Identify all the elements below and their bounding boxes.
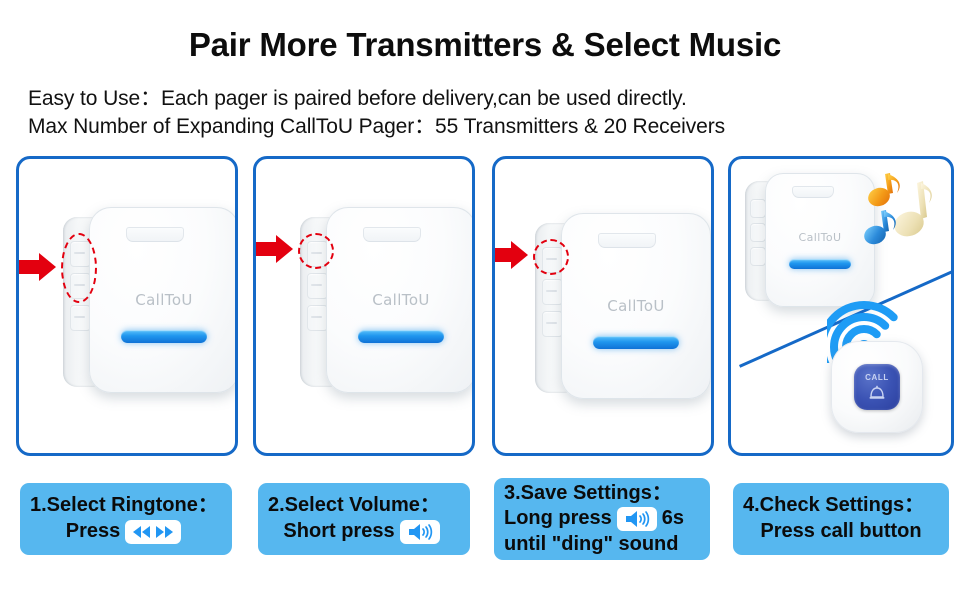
caption-step-1: 1.Select Ringtone： Press [20,483,232,555]
device-led-indicator [358,330,444,343]
button-nub [74,316,85,318]
caption-2-line-2: Short press [258,519,470,545]
device-led-indicator [593,336,679,349]
red-arrow-pointer [16,253,59,281]
device-logo-text: CallToU [135,291,193,309]
call-button-label: CALL [865,373,889,382]
panel-step-2: CallToU [253,156,475,456]
caption-4-line-1: 4.Check Settings： [733,493,949,519]
caption-2-line-1: 2.Select Volume： [258,493,470,519]
caption-1-prefix: Press [66,519,121,545]
red-arrow-pointer [253,235,296,263]
device-side-button-bottom[interactable] [70,305,91,331]
device-speaker-slot [598,233,656,248]
receiver-device: CallToU [63,207,238,397]
volume-icon-pill[interactable] [617,507,657,531]
call-button[interactable]: CALL [831,341,923,433]
page-title: Pair More Transmitters & Select Music [0,26,970,64]
device-front-face: CallToU [561,213,711,399]
device-logo-text: CallToU [799,231,842,244]
volume-icon [407,523,433,541]
device-side-button-bottom[interactable] [750,247,766,266]
device-side-button-bottom[interactable] [307,305,328,331]
button-nub [546,322,557,324]
device-side-button-top[interactable] [750,199,766,218]
caption-4-line-2: Press call button [733,519,949,545]
device-speaker-slot [126,227,184,242]
volume-icon-pill[interactable] [400,520,440,544]
caption-3-prefix: Long press [504,506,612,532]
highlight-dashed-circle [298,233,334,269]
volume-icon [624,510,650,528]
call-button-inner[interactable]: CALL [854,364,900,410]
music-notes-icon [859,169,951,259]
infographic-root: Pair More Transmitters & Select Music Ea… [0,0,970,600]
panel-step-4: CallToU [728,156,954,456]
highlight-dashed-ellipse [61,233,97,303]
device-logo-text: CallToU [607,297,665,315]
arrow-head [511,241,528,269]
arrow-shaft [253,242,278,256]
device-side-button-middle[interactable] [750,223,766,242]
device-led-indicator [121,330,207,343]
device-side-button-middle[interactable] [542,279,563,305]
caption-3-suffix: 6s [662,506,684,532]
subtitle-line-1: Easy to Use：Each pager is paired before … [28,82,687,112]
caption-step-3: 3.Save Settings： Long press 6s until "di… [494,478,710,560]
panel-step-1: CallToU [16,156,238,456]
caption-3-line-3: until "ding" sound [494,532,710,558]
receiver-device: CallToU [535,213,714,403]
caption-step-4: 4.Check Settings： Press call button [733,483,949,555]
arrow-shaft [16,260,41,274]
device-led-indicator [789,259,851,269]
device-side-button-bottom[interactable] [542,311,563,337]
caption-1-line-1: 1.Select Ringtone： [20,493,232,519]
highlight-dashed-circle [533,239,569,275]
button-nub [311,284,322,286]
caption-1-line-2: Press [20,519,232,545]
device-front-face: CallToU [89,207,238,393]
caption-3-line-1: 3.Save Settings： [494,481,710,507]
caption-3-line-2: Long press 6s [494,506,710,532]
red-arrow-pointer [492,241,531,269]
device-front-face: CallToU [326,207,475,393]
subtitle-line-2: Max Number of Expanding CallToU Pager：55… [28,110,725,140]
caption-2-prefix: Short press [283,519,394,545]
arrow-head [39,253,56,281]
panel-step-3: CallToU [492,156,714,456]
device-speaker-slot [792,186,834,198]
arrow-head [276,235,293,263]
device-side-button-middle[interactable] [307,273,328,299]
device-speaker-slot [363,227,421,242]
transport-icons [132,524,174,540]
rewind-fastforward-icon-pill[interactable] [125,520,181,544]
button-nub [546,290,557,292]
bell-icon [867,384,887,407]
device-logo-text: CallToU [372,291,430,309]
button-nub [311,316,322,318]
arrow-shaft [492,248,513,262]
caption-step-2: 2.Select Volume： Short press [258,483,470,555]
